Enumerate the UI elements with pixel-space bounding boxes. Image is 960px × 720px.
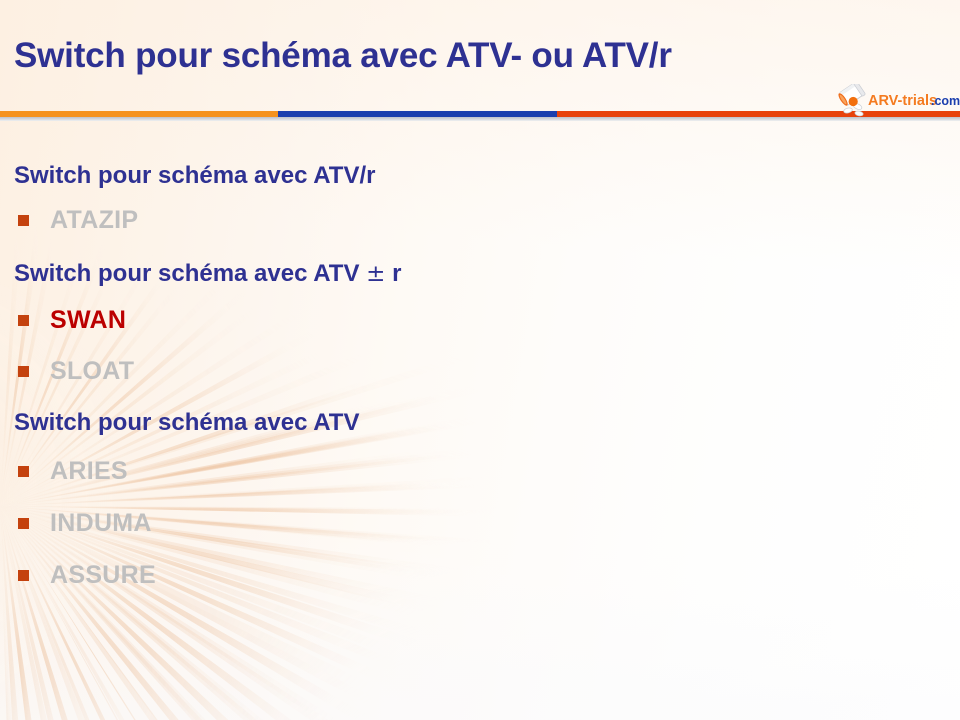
arv-trials-logo[interactable]: ARV-trials .com	[833, 84, 960, 118]
header-divider-shadow	[0, 117, 960, 121]
list-item-label: ARIES	[50, 459, 128, 484]
slide-body: Switch pour schéma avec ATV/r ATAZIP Swi…	[0, 150, 960, 588]
list-item-label: ASSURE	[50, 563, 156, 588]
group-heading: Switch pour schéma avec ATV ± r	[0, 262, 960, 286]
square-bullet-icon	[18, 466, 29, 477]
group-atv-r: Switch pour schéma avec ATV/r ATAZIP	[0, 164, 960, 233]
group-atv: Switch pour schéma avec ATV ARIES INDUMA…	[0, 411, 960, 588]
pill-bottle-icon	[836, 84, 865, 117]
group-heading-text: Switch pour schéma avec ATV	[14, 409, 359, 436]
list-item-label: SLOAT	[50, 359, 134, 384]
list-item-label: SWAN	[50, 308, 126, 333]
logo-suffix: .com	[931, 94, 960, 108]
group-atv-plusminus-r: Switch pour schéma avec ATV ± r SWAN SLO…	[0, 262, 960, 384]
list-item-label: ATAZIP	[50, 208, 138, 233]
page-title: Switch pour schéma avec ATV- ou ATV/r	[14, 37, 844, 76]
list-item[interactable]: ARIES	[0, 459, 960, 484]
square-bullet-icon	[18, 518, 29, 529]
list-item[interactable]: ASSURE	[0, 563, 960, 588]
square-bullet-icon	[18, 366, 29, 377]
square-bullet-icon	[18, 315, 29, 326]
group-heading-text: Switch pour schéma avec ATV/r	[14, 162, 375, 189]
group-heading: Switch pour schéma avec ATV/r	[0, 164, 960, 188]
group-heading-suffix: r	[385, 260, 401, 287]
square-bullet-icon	[18, 570, 29, 581]
list-item[interactable]: ATAZIP	[0, 208, 960, 233]
group-heading: Switch pour schéma avec ATV	[0, 411, 960, 435]
square-bullet-icon	[18, 215, 29, 226]
logo-name: ARV-trials	[868, 93, 937, 109]
slide: Switch pour schéma avec ATV- ou ATV/r	[0, 0, 960, 720]
list-item-label: INDUMA	[50, 511, 152, 536]
list-item[interactable]: INDUMA	[0, 511, 960, 536]
list-item[interactable]: SWAN	[0, 308, 960, 333]
group-heading-text: Switch pour schéma avec ATV	[14, 260, 366, 287]
list-item[interactable]: SLOAT	[0, 359, 960, 384]
plus-minus-symbol: ±	[366, 261, 385, 287]
